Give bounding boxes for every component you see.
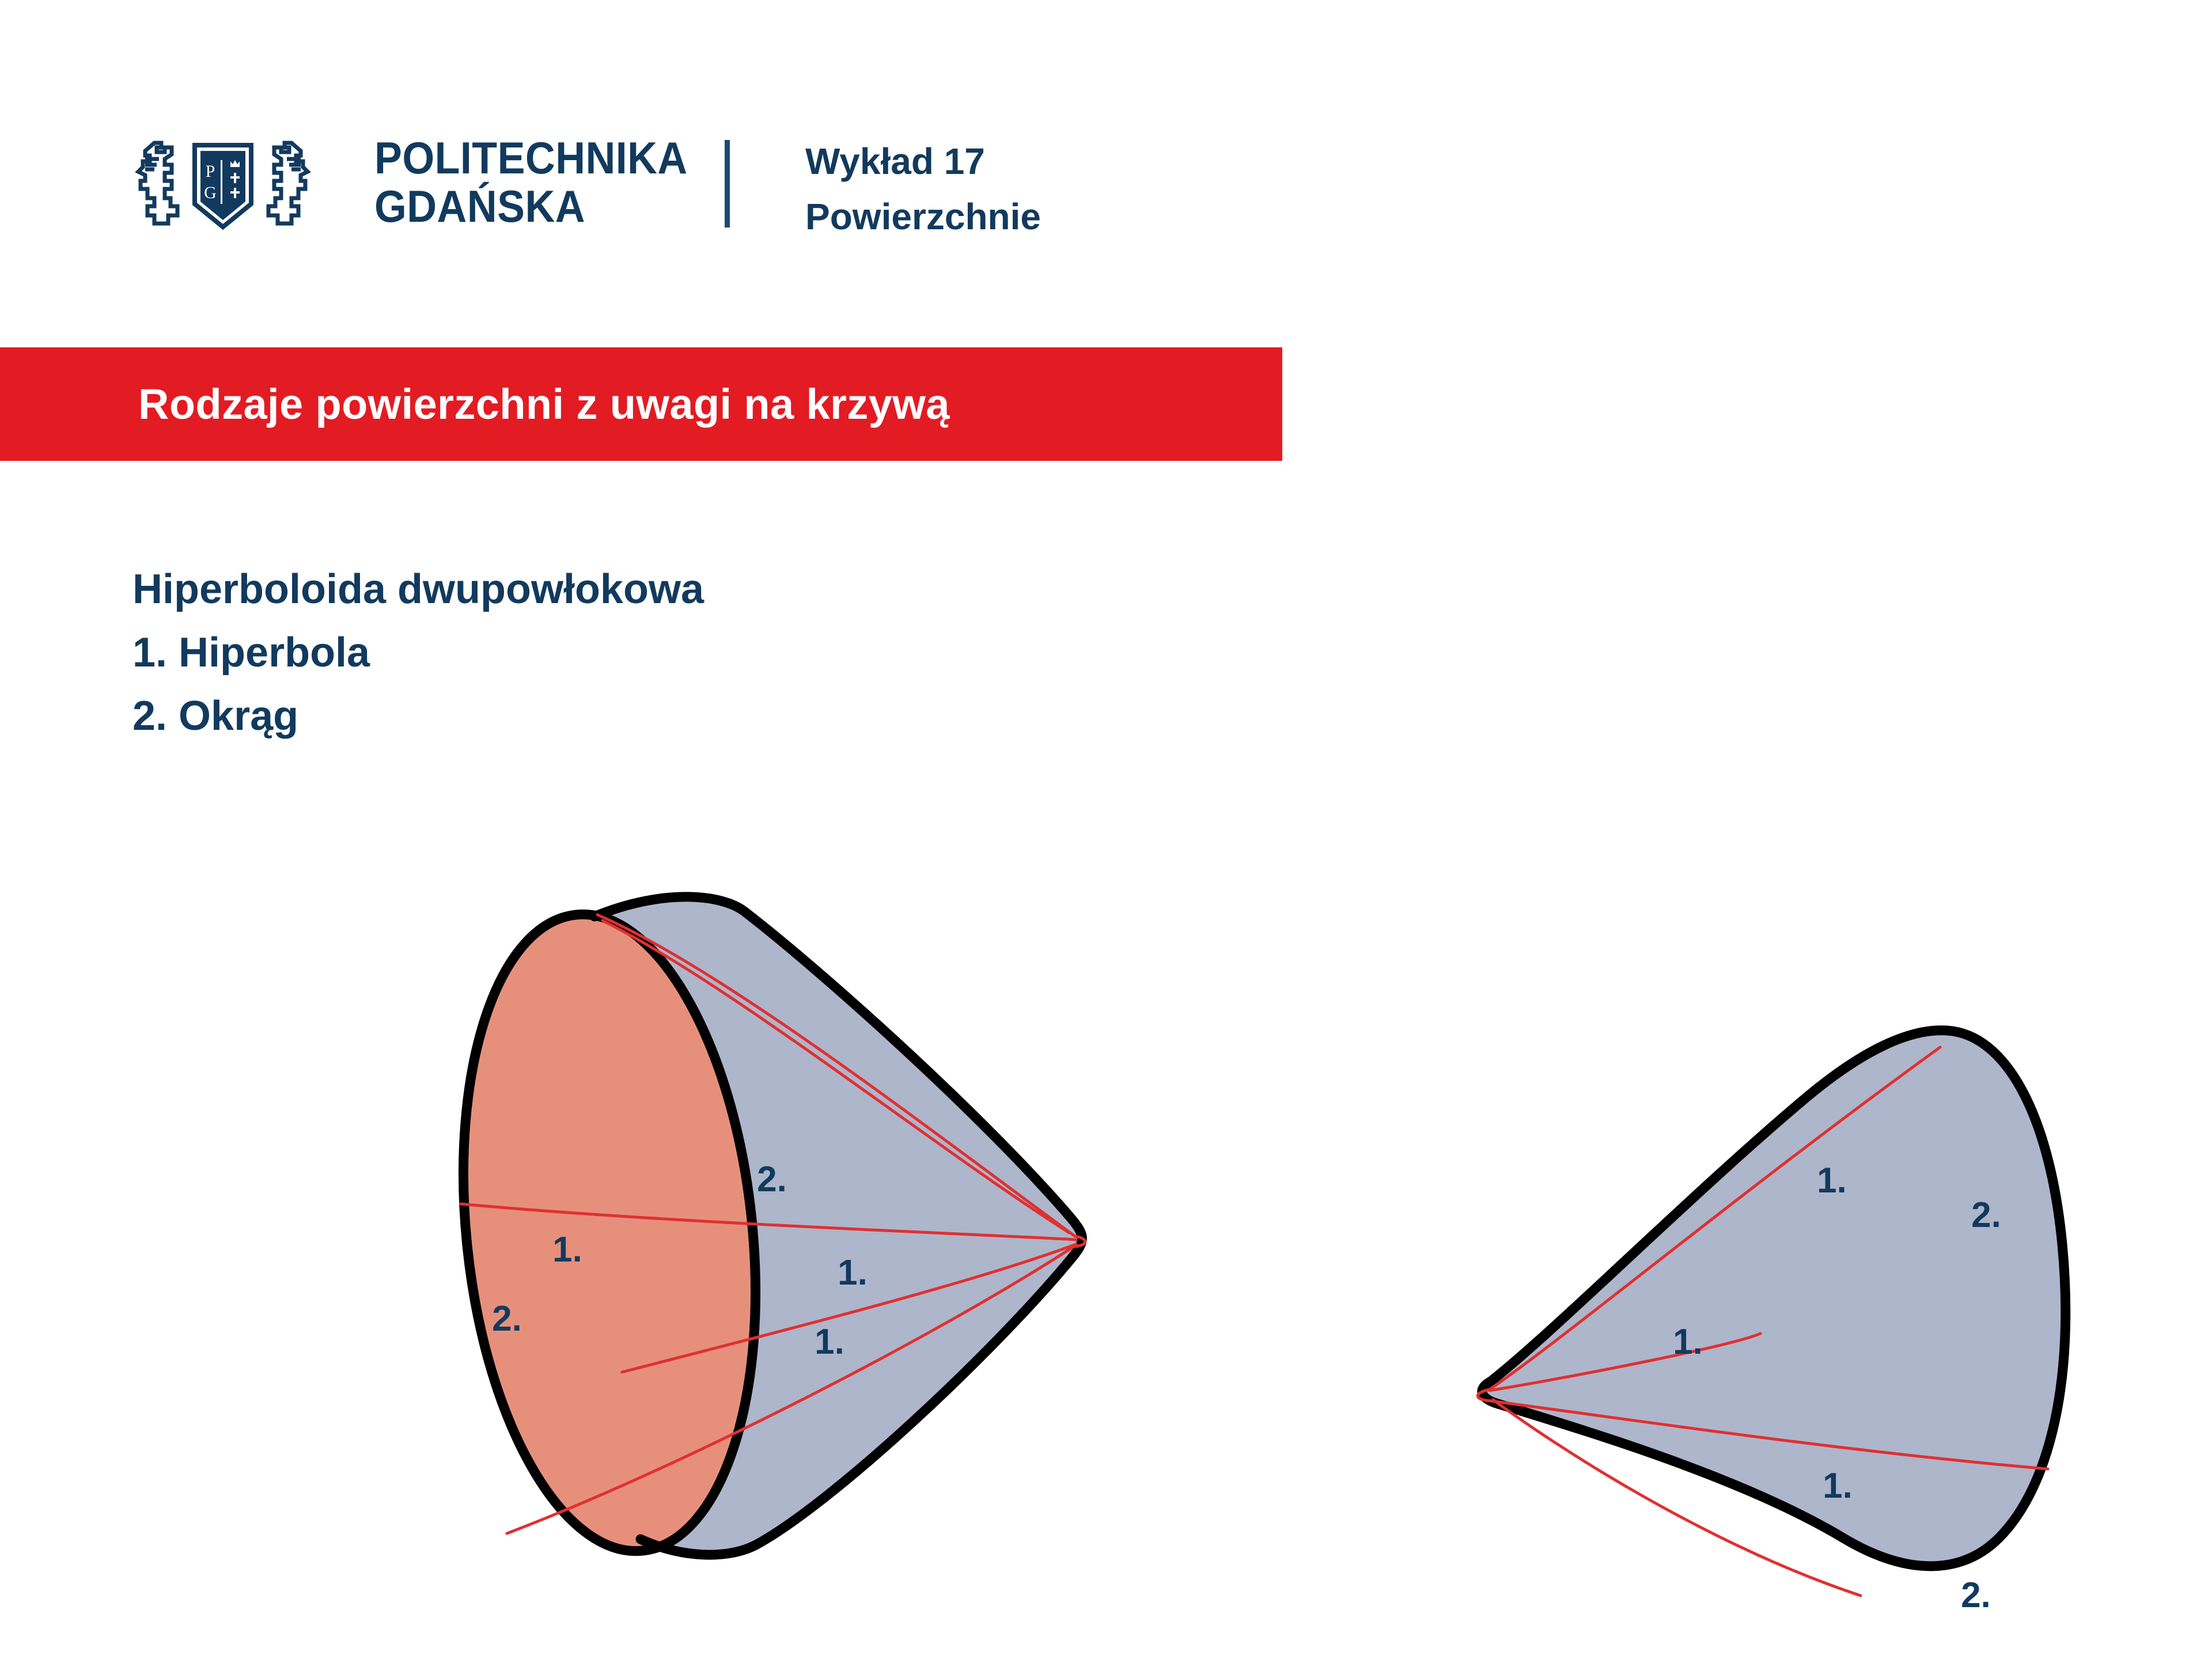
left-label-hiperbola-cap: 1. xyxy=(552,1230,582,1270)
right-hyperboloid-sheet: 1. 2. 1. 1. 2. xyxy=(1478,1031,2066,1613)
university-wordmark: POLITECHNIKA GDAŃSKA xyxy=(374,134,671,230)
lecture-subject: Powierzchnie xyxy=(805,189,1041,244)
content-item-2: 2. Okrąg xyxy=(132,684,704,748)
right-label-okrag-lower: 2. xyxy=(1961,1575,1991,1613)
lecture-number: Wykład 17 xyxy=(805,134,1041,189)
left-label-okrag-top: 2. xyxy=(757,1160,787,1199)
right-body-fill xyxy=(1482,1031,2066,1566)
page-header: P G POLITECHNIKA GDAŃSKA Wykład 17 Powie… xyxy=(0,0,2212,276)
left-label-hiperbola-lower: 1. xyxy=(815,1322,844,1362)
pg-coat-of-arms-icon: P G xyxy=(128,131,318,236)
header-divider xyxy=(725,140,730,228)
content-heading: Hiperboloida dwupowłokowa xyxy=(132,558,704,621)
right-label-hiperbola-upper: 1. xyxy=(1817,1161,1847,1200)
content-text-block: Hiperboloida dwupowłokowa 1. Hiperbola 2… xyxy=(132,558,704,748)
section-banner-title: Rodzaje powierzchni z uwagi na krzywą xyxy=(138,347,950,461)
university-name-line1: POLITECHNIKA xyxy=(374,134,671,182)
svg-text:P: P xyxy=(206,162,215,181)
left-hyperboloid-sheet: 2. 1. 1. 1. 2. xyxy=(434,896,1085,1566)
right-label-hiperbola-lower: 1. xyxy=(1823,1466,1853,1506)
right-label-hiperbola-mid: 1. xyxy=(1673,1322,1703,1362)
university-name-line2: GDAŃSKA xyxy=(374,182,671,230)
left-label-okrag-bottom: 2. xyxy=(492,1299,522,1339)
figure-hyperboloid-two-sheets: 2. 1. 1. 1. 2. 1. 2. 1. xyxy=(0,778,2212,1613)
svg-text:G: G xyxy=(204,183,217,202)
right-label-okrag-upper: 2. xyxy=(1971,1195,2001,1235)
lecture-title-block: Wykład 17 Powierzchnie xyxy=(805,134,1041,244)
left-label-hiperbola-mid: 1. xyxy=(838,1253,868,1293)
section-banner: Rodzaje powierzchni z uwagi na krzywą xyxy=(0,347,1282,461)
content-item-1: 1. Hiperbola xyxy=(132,621,704,684)
